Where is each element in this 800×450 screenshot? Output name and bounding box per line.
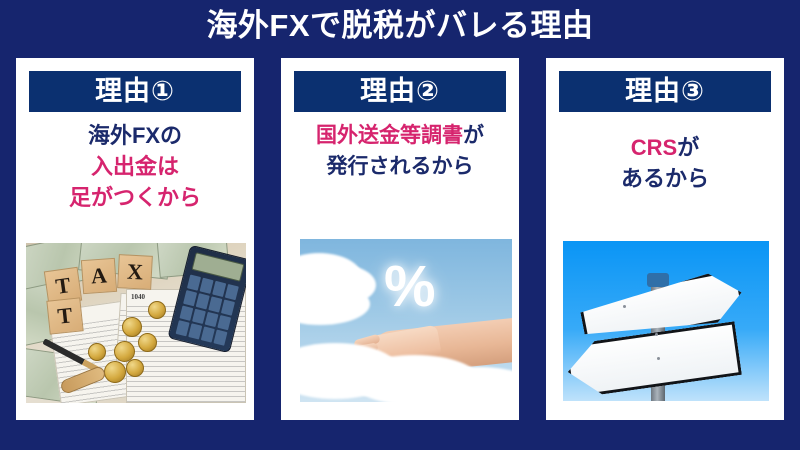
tax-block-letter: A <box>81 258 117 294</box>
reason-2-line-1-suffix: が <box>463 124 484 147</box>
tax-block-letter: T <box>46 297 83 334</box>
reason-card-2: 理由② 国外送金等調書が 発行されるから % <box>281 58 519 420</box>
tax-desk-photo: 1040 T A X T <box>26 243 246 403</box>
tax-block-letter: X <box>117 254 153 290</box>
reason-card-3-text: CRSが あるから <box>555 132 775 194</box>
hand-percent-sky-photo: % <box>300 239 512 402</box>
blank-signpost-photo <box>563 241 769 401</box>
reason-3-line-2: あるから <box>555 163 775 194</box>
reason-card-1-header: 理由① <box>29 71 241 112</box>
reason-card-2-text: 国外送金等調書が 発行されるから <box>290 120 510 182</box>
reason-card-2-header: 理由② <box>294 71 506 112</box>
reason-3-line-1-suffix: が <box>677 135 699 160</box>
percent-symbol-icon: % <box>384 253 436 320</box>
reason-card-3-header: 理由③ <box>559 71 771 112</box>
reason-card-1-text: 海外FXの 入出金は 足がつくから <box>25 120 245 213</box>
reason-3-line-1: CRS <box>631 135 677 160</box>
reasons-card-row: 理由① 海外FXの 入出金は 足がつくから 1040 T <box>16 58 784 420</box>
reason-2-line-1: 国外送金等調書 <box>316 124 463 147</box>
reason-2-line-2: 発行されるから <box>290 151 510 182</box>
reason-card-1: 理由① 海外FXの 入出金は 足がつくから 1040 T <box>16 58 254 420</box>
reason-card-3: 理由③ CRSが あるから <box>546 58 784 420</box>
page-title: 海外FXで脱税がバレる理由 <box>0 6 800 46</box>
reason-1-line-1: 海外FXの <box>25 120 245 151</box>
reason-1-line-2: 入出金は <box>25 151 245 182</box>
reason-1-line-3: 足がつくから <box>25 182 245 213</box>
tax-form-label: 1040 <box>131 293 145 301</box>
